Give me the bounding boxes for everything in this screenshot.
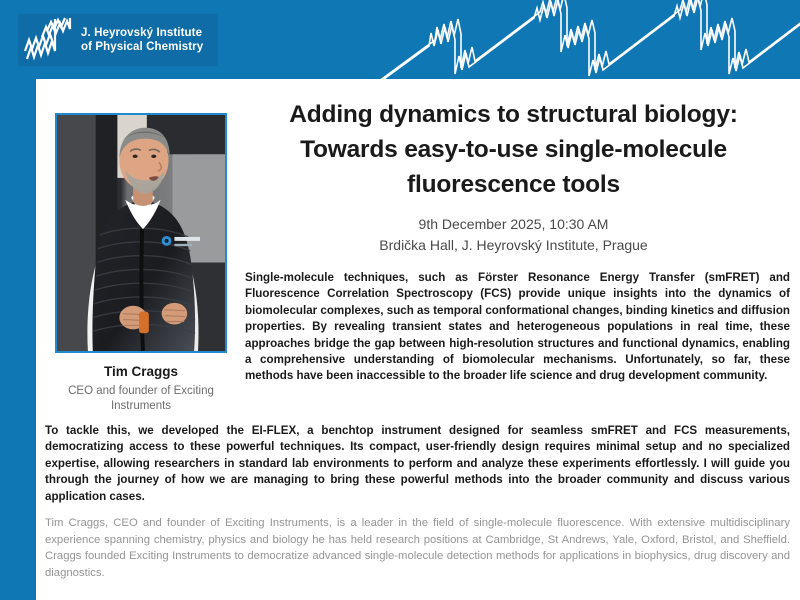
speaker-role: CEO and founder of Exciting Instruments <box>55 384 227 414</box>
speaker-block: Tim Craggs CEO and founder of Exciting I… <box>55 113 237 414</box>
title-line-1: Adding dynamics to structural biology: <box>241 97 786 132</box>
event-datetime: 9th December 2025, 10:30 AM <box>241 214 786 235</box>
seminar-poster: J. Heyrovský Institute of Physical Chemi… <box>0 0 800 600</box>
title-line-2: Towards easy-to-use single-molecule <box>241 132 786 167</box>
speaker-biography: Tim Craggs, CEO and founder of Exciting … <box>45 515 790 581</box>
polarograph-wave-logo-icon <box>22 17 78 63</box>
polarogram-wave-decoration-icon <box>380 0 800 79</box>
logo-text-block: J. Heyrovský Institute of Physical Chemi… <box>78 26 203 54</box>
event-meta: 9th December 2025, 10:30 AM Brdička Hall… <box>241 214 786 256</box>
speaker-name: Tim Craggs <box>55 364 227 379</box>
title-line-3: fluorescence tools <box>241 167 786 202</box>
abstract-paragraph-2: To tackle this, we developed the EI-FLEX… <box>45 423 790 505</box>
content-panel: Tim Craggs CEO and founder of Exciting I… <box>36 81 800 600</box>
logo-line-2: of Physical Chemistry <box>81 40 203 54</box>
institute-logo: J. Heyrovský Institute of Physical Chemi… <box>18 14 218 66</box>
speaker-photo <box>57 115 225 351</box>
speaker-photo-frame <box>55 113 227 353</box>
abstract-paragraph-1: Single-molecule techniques, such as Förs… <box>245 270 790 385</box>
page-title: Adding dynamics to structural biology: T… <box>241 97 786 202</box>
header-band: J. Heyrovský Institute of Physical Chemi… <box>0 0 800 79</box>
event-venue: Brdička Hall, J. Heyrovský Institute, Pr… <box>241 235 786 256</box>
logo-line-1: J. Heyrovský Institute <box>81 26 203 40</box>
left-accent-band <box>0 79 36 600</box>
